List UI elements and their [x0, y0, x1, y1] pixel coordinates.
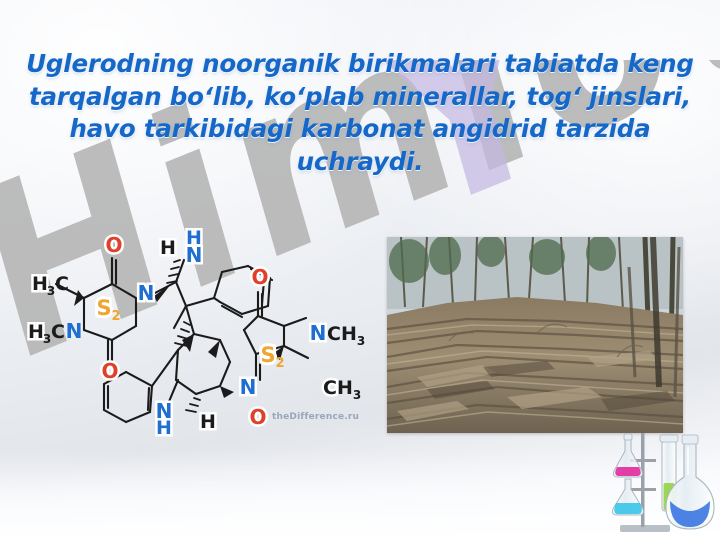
title-line-4: uchraydi. — [18, 146, 702, 179]
svg-text:H: H — [28, 321, 44, 343]
svg-text:C: C — [55, 273, 69, 295]
svg-text:H: H — [156, 417, 172, 439]
svg-text:C: C — [327, 323, 341, 345]
svg-text:O: O — [105, 233, 122, 257]
lab-glassware-illustration — [600, 425, 720, 540]
chemical-structure-diagram: H H 3 C H H 3 C N O O O O S S 2 — [8, 222, 400, 440]
svg-text:3: 3 — [47, 284, 55, 298]
title-line-1: Uglerodning noorganik birikmalari tabiat… — [18, 48, 702, 81]
slide-title: Uglerodning noorganik birikmalari tabiat… — [18, 48, 702, 178]
svg-text:S: S — [260, 343, 275, 367]
chemistry-credit-text: theDifference.ru — [272, 412, 359, 422]
rock-outcrop-photo — [387, 237, 683, 433]
svg-text:3: 3 — [353, 388, 361, 402]
svg-text:C: C — [323, 377, 337, 399]
svg-text:H: H — [32, 273, 48, 295]
svg-text:2: 2 — [111, 309, 120, 324]
svg-text:H: H — [341, 323, 357, 345]
presentation-slide: Himiot Y Uglerodning noorganik birikmala… — [0, 0, 720, 540]
svg-text:N: N — [310, 321, 327, 345]
svg-text:N: N — [240, 375, 257, 399]
title-line-3: havo tarkibidagi karbonat angidrid tarzi… — [18, 113, 702, 146]
svg-text:N: N — [186, 243, 203, 267]
svg-text:3: 3 — [43, 332, 51, 346]
svg-text:H: H — [337, 377, 353, 399]
chemistry-credit-watermark: theDifference.ru — [272, 412, 359, 422]
svg-text:O: O — [249, 405, 266, 429]
svg-text:C: C — [51, 321, 65, 343]
svg-text:N: N — [138, 281, 155, 305]
svg-text:H: H — [160, 237, 176, 259]
svg-text:3: 3 — [357, 334, 365, 348]
svg-text:O: O — [251, 265, 268, 289]
svg-text:O: O — [101, 359, 118, 383]
svg-text:2: 2 — [275, 356, 284, 371]
svg-text:H: H — [200, 411, 216, 433]
svg-text:S: S — [96, 296, 111, 320]
svg-text:N: N — [66, 319, 83, 343]
title-line-2: tarqalgan bo‘lib, ko‘plab minerallar, to… — [18, 81, 702, 114]
